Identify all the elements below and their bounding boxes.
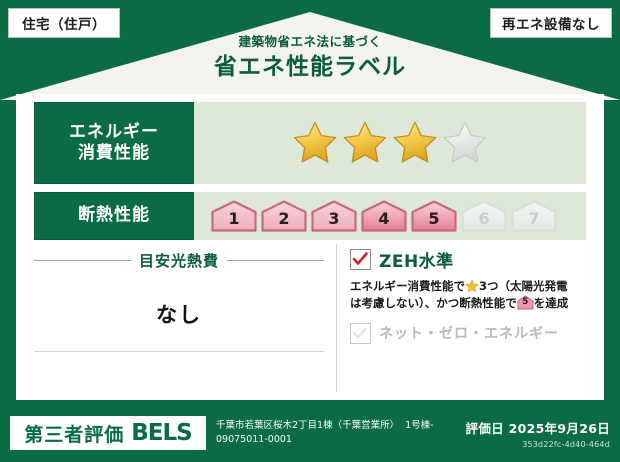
row-insulation-value: 1234567 (194, 192, 586, 240)
insulation-chip-inactive: 6 (460, 199, 508, 233)
check-icon-disabled (352, 325, 368, 341)
insulation-chip-active: 3 (310, 199, 358, 233)
footer-bar: 第三者評価 BELS 千葉市若葉区桜木2丁目1棟（千葉営業所） 1号棟- 090… (0, 404, 620, 462)
tag-building-type: 住宅（住戸） (8, 8, 120, 38)
row-energy-performance: エネルギー 消費性能 (34, 102, 586, 184)
zeh-desc-part2: は考慮しない）、かつ断熱性能で (350, 296, 517, 310)
bels-badge: 第三者評価 BELS (10, 416, 206, 450)
star-filled-icon (392, 120, 438, 166)
energy-label-card: 建築物省エネ法に基づく 省エネ性能ラベル 住宅（住戸） 再エネ設備なし エネルギ… (0, 0, 620, 462)
check-icon (352, 251, 368, 267)
row-insulation-performance: 断熱性能 1234567 (34, 192, 586, 240)
utility-cost-value-box: なし (34, 277, 324, 352)
utility-cost-heading: 目安光熱費 (34, 250, 324, 271)
star-filled-icon (292, 120, 338, 166)
row-energy-label: エネルギー 消費性能 (34, 102, 194, 184)
insulation-chip-value: 4 (378, 211, 389, 233)
main-body-card: エネルギー 消費性能 断熱性能 1234567 目安光熱費 なし (16, 94, 604, 400)
heading-rule-left (34, 260, 131, 261)
star-empty-icon (442, 120, 488, 166)
row-insulation-label: 断熱性能 (34, 192, 194, 240)
insulation-chip-active: 1 (210, 199, 258, 233)
panel-divider (336, 244, 337, 392)
zeh-title: ZEH水準 (379, 247, 454, 272)
insulation-chip-inactive: 7 (510, 199, 558, 233)
zeh-description: エネルギー消費性能で3つ（太陽光発電 は考慮しない）、かつ断熱性能で5を達成 (350, 278, 604, 313)
net-zero-energy-label: ネット・ゼロ・エネルギー (379, 323, 559, 343)
star-filled-icon (342, 120, 388, 166)
bels-badge-jp: 第三者評価 (24, 420, 124, 447)
insulation-chip-active: 4 (360, 199, 408, 233)
inline-level-chip-value: 5 (517, 295, 534, 310)
zeh-title-row: ZEH水準 (350, 247, 604, 272)
footer-address-line1: 千葉市若葉区桜木2丁目1棟（千葉営業所） (216, 419, 399, 433)
utility-cost-heading-text: 目安光熱費 (139, 250, 219, 271)
page-title: 省エネ性能ラベル (0, 56, 620, 79)
row-energy-label-line1: エネルギー (69, 122, 159, 143)
utility-cost-value: なし (156, 299, 202, 329)
row-energy-label-line2: 消費性能 (69, 143, 159, 164)
star-rating (292, 120, 488, 166)
insulation-chip-value: 2 (278, 211, 289, 233)
footer-date-label: 評価日 (466, 421, 504, 436)
insulation-chip-value: 7 (528, 211, 539, 233)
footer-address-line2: 09075011-0001 (216, 433, 466, 447)
insulation-chip-value: 3 (328, 211, 339, 233)
insulation-chip-value: 5 (428, 211, 439, 233)
inline-star-icon (465, 279, 479, 293)
footer-unit: 1号棟- (405, 419, 433, 433)
footer-id: 353d22fc-4d40-464d (466, 440, 610, 449)
utility-cost-panel: 目安光熱費 なし (34, 246, 324, 392)
zeh-desc-part3: を達成 (534, 296, 569, 310)
net-zero-energy-row: ネット・ゼロ・エネルギー (350, 323, 604, 344)
insulation-chip-active: 5 (410, 199, 458, 233)
insulation-chip-active: 2 (260, 199, 308, 233)
heading-rule-right (227, 260, 324, 261)
inline-level-chip: 5 (517, 295, 534, 310)
row-energy-value (194, 102, 586, 184)
footer-date-value: 2025年9月26日 (509, 421, 610, 436)
zeh-desc-stars: 3つ（太陽光発電 (479, 279, 568, 293)
zeh-panel: ZEH水準 エネルギー消費性能で3つ（太陽光発電 は考慮しない）、かつ断熱性能で… (350, 244, 604, 392)
zeh-checkbox[interactable] (350, 249, 371, 270)
header-title-block: 建築物省エネ法に基づく 省エネ性能ラベル (0, 36, 620, 79)
insulation-chip-value: 1 (228, 211, 239, 233)
tag-renewable-equipment: 再エネ設備なし (490, 8, 612, 38)
footer-address: 千葉市若葉区桜木2丁目1棟（千葉営業所） 1号棟- 09075011-0001 (216, 419, 466, 447)
net-zero-checkbox[interactable] (350, 323, 371, 344)
footer-evaluation: 評価日 2025年9月26日 353d22fc-4d40-464d (466, 418, 610, 449)
bels-badge-en: BELS (131, 420, 191, 446)
zeh-desc-part1: エネルギー消費性能で (350, 279, 465, 293)
insulation-level-chips: 1234567 (210, 199, 558, 233)
insulation-chip-value: 6 (478, 211, 489, 233)
